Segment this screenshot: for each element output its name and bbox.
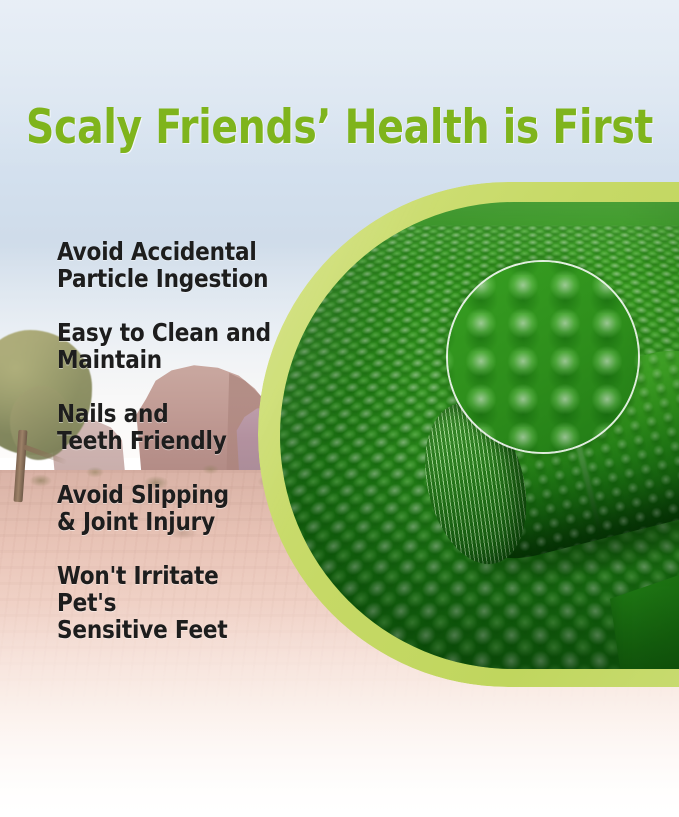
feature-item-5-line1: Won't Irritate Pet's [57, 561, 219, 617]
product-feature-poster: Scaly Friends’ Health is First Avoid Acc… [0, 0, 679, 817]
feature-item-5: Won't Irritate Pet's Sensitive Feet [57, 562, 280, 643]
feature-item-4-line1: Avoid Slipping [57, 480, 229, 509]
feature-item-1-line1: Avoid Accidental [57, 237, 257, 266]
green-mat-surface [280, 202, 679, 669]
product-image-panel [258, 182, 679, 687]
feature-item-2-line1: Easy to Clean and [57, 318, 271, 347]
feature-item-2: Easy to Clean and Maintain [57, 319, 280, 373]
page-title: Scaly Friends’ Health is First [24, 104, 655, 151]
feature-item-1: Avoid Accidental Particle Ingestion [57, 238, 280, 292]
feature-list: Avoid Accidental Particle Ingestion Easy… [57, 238, 289, 643]
feature-item-2-line2: Maintain [57, 345, 162, 374]
feature-item-3-line1: Nails and [57, 399, 168, 428]
mat-shading-overlay [280, 202, 679, 669]
feature-item-3: Nails and Teeth Friendly [57, 400, 280, 454]
feature-item-1-line2: Particle Ingestion [57, 264, 268, 293]
feature-item-4: Avoid Slipping & Joint Injury [57, 481, 280, 535]
feature-item-4-line2: & Joint Injury [57, 507, 215, 536]
feature-item-5-line2: Sensitive Feet [57, 615, 228, 644]
feature-item-3-line2: Teeth Friendly [57, 426, 227, 455]
